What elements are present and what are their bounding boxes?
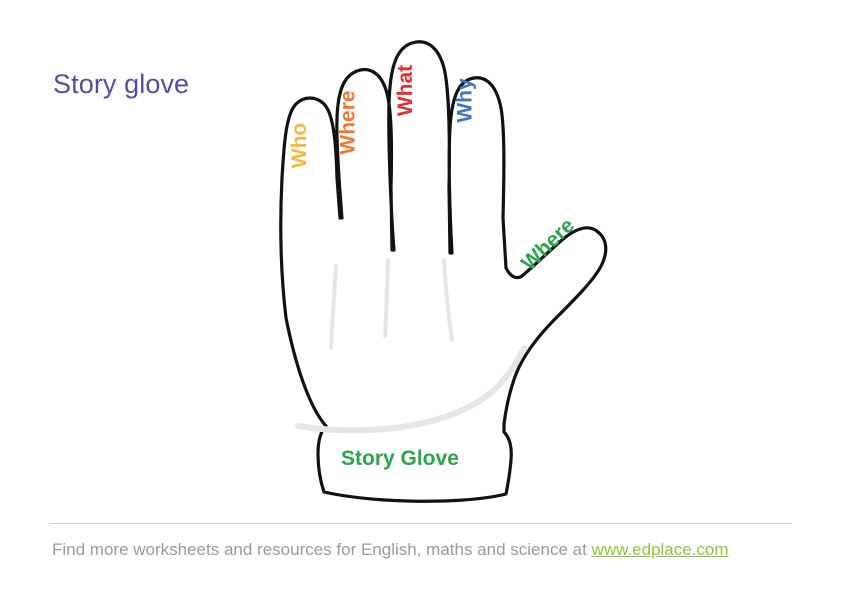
cuff-label-story-glove: Story Glove xyxy=(341,448,459,469)
finger-label-what: What xyxy=(395,65,416,116)
edplace-link[interactable]: www.edplace.com xyxy=(592,540,729,559)
footer-divider xyxy=(50,523,792,524)
finger-label-why: Why xyxy=(455,78,476,122)
page-title: Story glove xyxy=(53,69,189,100)
finger-label-who: Who xyxy=(289,123,310,168)
footer-lead-text: Find more worksheets and resources for E… xyxy=(52,540,592,559)
footer-text: Find more worksheets and resources for E… xyxy=(52,540,729,560)
story-glove-illustration xyxy=(248,18,623,513)
finger-label-where: Where xyxy=(338,90,359,154)
worksheet-page: Story glove Who Where What Why Where Sto… xyxy=(0,0,842,595)
